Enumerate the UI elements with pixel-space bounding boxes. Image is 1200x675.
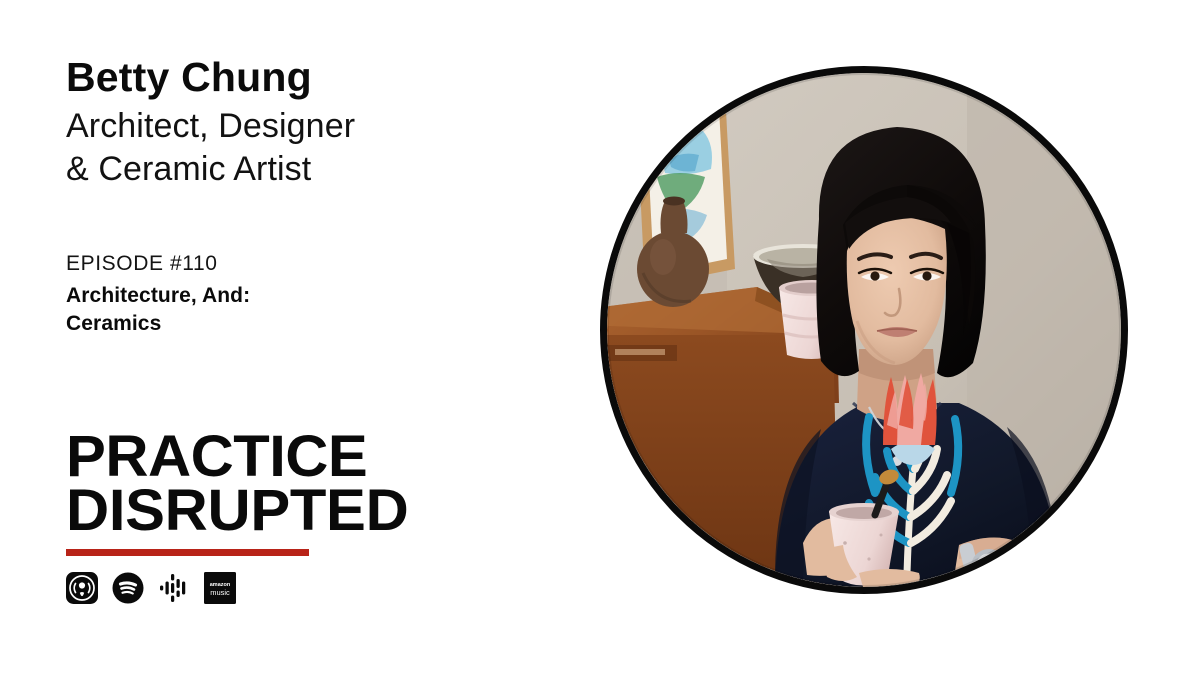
platform-icon-row: amazon music: [66, 572, 236, 604]
amazon-music-icon[interactable]: amazon music: [204, 572, 236, 604]
google-podcasts-icon[interactable]: [158, 572, 190, 604]
episode-title-line-2: Ceramics: [66, 312, 161, 335]
show-logo: PRACTICE DISRUPTED: [66, 430, 526, 556]
logo-underline-rule: [66, 549, 309, 556]
guest-name: Betty Chung: [66, 54, 566, 101]
guest-info-block: Betty Chung Architect, Designer & Cerami…: [66, 54, 566, 192]
episode-title-line-1: Architecture, And:: [66, 284, 250, 307]
spotify-icon[interactable]: [112, 572, 144, 604]
guest-title-line-2: & Ceramic Artist: [66, 150, 311, 188]
logo-line-disrupted: DISRUPTED: [66, 484, 540, 538]
podcast-episode-graphic: Betty Chung Architect, Designer & Cerami…: [0, 0, 1200, 675]
episode-info-block: EPISODE #110 Architecture, And: Ceramics: [66, 250, 486, 338]
amazon-music-word-top: amazon: [210, 582, 231, 588]
guest-title: Architect, Designer & Ceramic Artist: [66, 105, 456, 192]
apple-podcasts-icon[interactable]: [66, 572, 98, 604]
episode-title: Architecture, And: Ceramics: [66, 282, 336, 338]
logo-line-practice: PRACTICE: [66, 430, 540, 484]
amazon-music-word-bottom: music: [210, 588, 230, 597]
guest-head: [816, 127, 985, 377]
guest-portrait-image: [607, 73, 1121, 587]
episode-number: EPISODE #110: [66, 250, 486, 277]
guest-portrait: [600, 66, 1128, 594]
guest-title-line-1: Architect, Designer: [66, 107, 355, 145]
